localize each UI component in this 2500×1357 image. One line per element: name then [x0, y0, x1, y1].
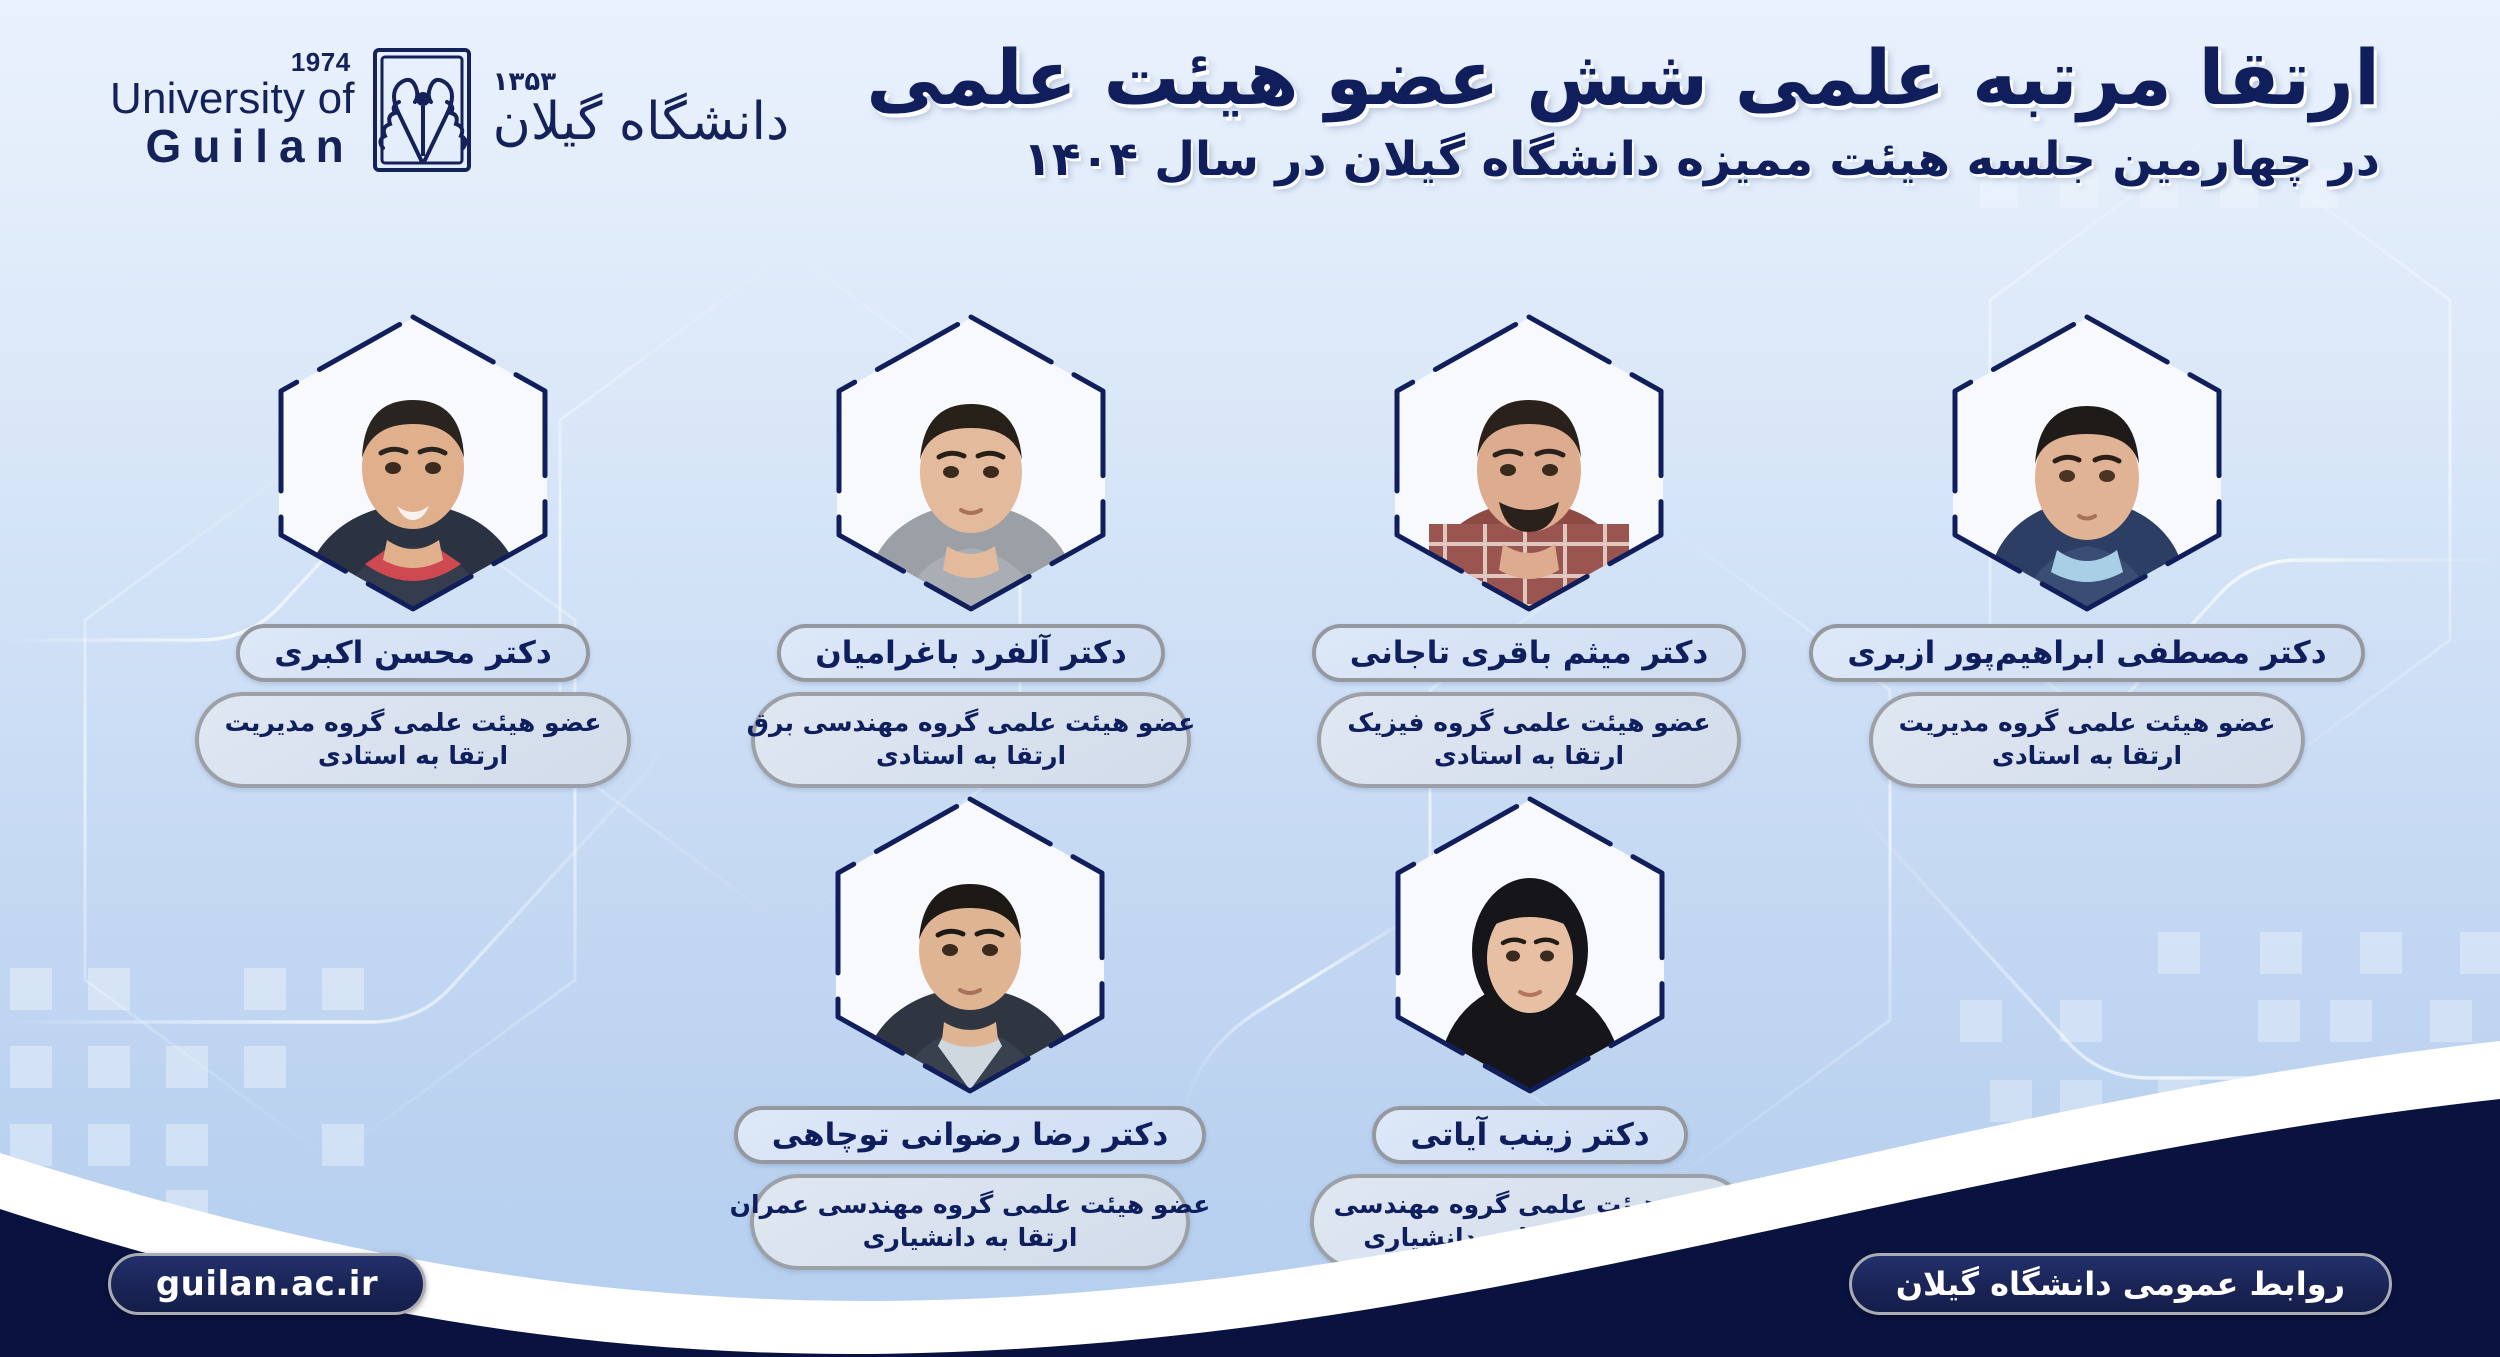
poster-canvas: 1974 University of Guilan ۱۳۵۳ دانشگاه گ…	[0, 0, 2500, 1357]
logo-persian-text: ۱۳۵۳ دانشگاه گیلان	[493, 68, 789, 151]
logo-university-name-fa: دانشگاه گیلان	[493, 94, 789, 151]
person-role: عضو هیئت علمی گروه فیزیک ارتقا به استادی	[1317, 692, 1740, 788]
hex-frame-border	[270, 309, 556, 617]
website-url-button[interactable]: guilan.ac.ir	[108, 1253, 426, 1315]
logo-university-line2: Guilan	[110, 122, 355, 170]
person-role-line1: عضو هیئت علمی گروه مدیریت	[1899, 706, 2276, 739]
person-card: دکتر مصطفی ابراهیم‌پور ازبری عضو هیئت عل…	[1808, 318, 2366, 788]
logo-founding-year-en: 1974	[110, 49, 355, 75]
people-row-top: دکتر مصطفی ابراهیم‌پور ازبری عضو هیئت عل…	[0, 318, 2500, 788]
person-role: عضو هیئت علمی گروه مدیریت ارتقا به استاد…	[1869, 692, 2306, 788]
person-role-line2: ارتقا به استادی	[747, 739, 1196, 772]
avatar	[1395, 318, 1663, 608]
person-name: دکتر آلفرد باغرامیان	[777, 624, 1165, 682]
logo-university-line1: University of	[110, 77, 355, 122]
person-name: دکتر محسن اکبری	[236, 624, 589, 682]
avatar	[837, 318, 1105, 608]
person-name: دکتر میثم باقری تاجانی	[1312, 624, 1747, 682]
guilan-emblem-icon	[369, 44, 477, 176]
hex-frame-border	[1386, 309, 1672, 617]
person-card: دکتر آلفرد باغرامیان عضو هیئت علمی گروه …	[692, 318, 1250, 788]
university-logo: 1974 University of Guilan ۱۳۵۳ دانشگاه گ…	[110, 40, 789, 180]
poster-header: 1974 University of Guilan ۱۳۵۳ دانشگاه گ…	[0, 0, 2500, 290]
person-card: دکتر محسن اکبری عضو هیئت علمی گروه مدیری…	[134, 318, 692, 788]
hex-frame-border	[828, 309, 1114, 617]
person-role-line1: عضو هیئت علمی گروه مهندسی برق	[747, 706, 1196, 739]
logo-founding-year-fa: ۱۳۵۳	[493, 68, 789, 94]
hex-frame-border	[1944, 309, 2230, 617]
person-role-line2: ارتقا به استادی	[225, 739, 602, 772]
person-card: دکتر میثم باقری تاجانی عضو هیئت علمی گرو…	[1250, 318, 1808, 788]
avatar	[1953, 318, 2221, 608]
person-role-line2: ارتقا به استادی	[1347, 739, 1710, 772]
public-relations-label: روابط عمومی دانشگاه گیلان	[1849, 1253, 2392, 1315]
logo-english-text: 1974 University of Guilan	[110, 49, 355, 170]
avatar	[279, 318, 547, 608]
person-role: عضو هیئت علمی گروه مهندسی برق ارتقا به ا…	[751, 692, 1191, 788]
person-role-line2: ارتقا به استادی	[1899, 739, 2276, 772]
person-role: عضو هیئت علمی گروه مدیریت ارتقا به استاد…	[195, 692, 632, 788]
header-titles: ارتقا مرتبه علمی شش عضو هیئت علمی در چها…	[866, 32, 2380, 189]
person-role-line1: عضو هیئت علمی گروه فیزیک	[1347, 706, 1710, 739]
page-subtitle: در چهارمین جلسه هیئت ممیزه دانشگاه گیلان…	[866, 131, 2380, 190]
page-title: ارتقا مرتبه علمی شش عضو هیئت علمی	[866, 32, 2380, 125]
person-role-line1: عضو هیئت علمی گروه مدیریت	[225, 706, 602, 739]
person-name: دکتر مصطفی ابراهیم‌پور ازبری	[1809, 624, 2364, 682]
